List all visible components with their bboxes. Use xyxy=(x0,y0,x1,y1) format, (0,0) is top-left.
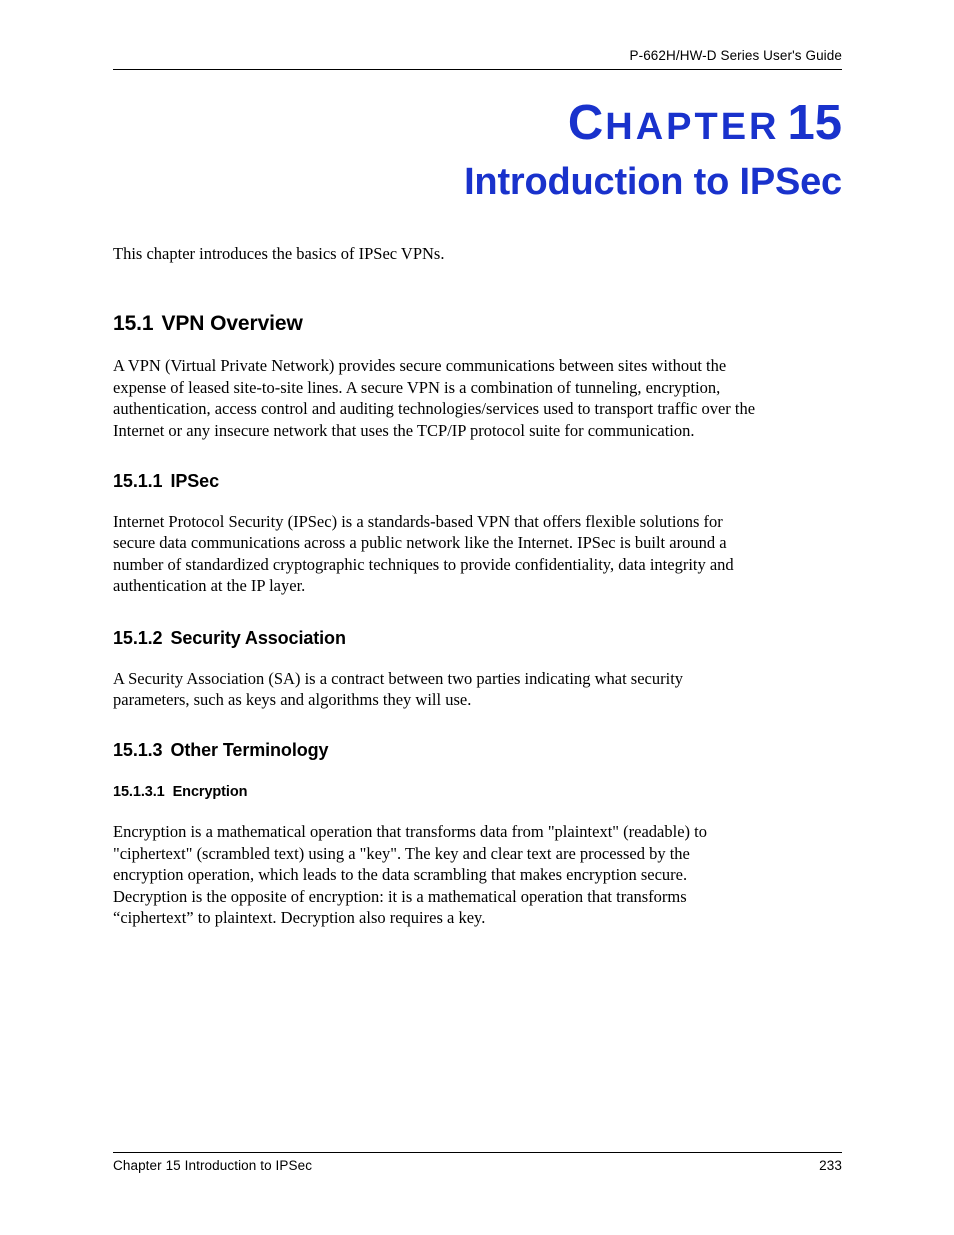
heading-15-1: 15.1 VPN Overview xyxy=(113,311,842,337)
paragraph-vpn-overview: A VPN (Virtual Private Network) provides… xyxy=(113,355,761,441)
spacer xyxy=(113,337,842,355)
heading-15-1-3-number: 15.1.3 xyxy=(113,740,162,760)
heading-15-1-3: 15.1.3 Other Terminology xyxy=(113,739,842,762)
footer-row: Chapter 15 Introduction to IPSec 233 xyxy=(113,1158,842,1173)
chapter-intro-paragraph: This chapter introduces the basics of IP… xyxy=(113,243,761,264)
page-number: 233 xyxy=(819,1158,842,1173)
spacer xyxy=(113,441,842,470)
spacer xyxy=(113,710,842,739)
chapter-label: CHAPTER 15 xyxy=(113,100,842,150)
heading-15-1-1: 15.1.1 IPSec xyxy=(113,470,842,493)
heading-15-1-2-title: Security Association xyxy=(170,628,345,648)
chapter-label-capital: C xyxy=(568,96,605,150)
heading-15-1-3-1-title: Encryption xyxy=(173,784,248,800)
heading-15-1-3-1: 15.1.3.1 Encryption xyxy=(113,783,842,802)
footer-divider xyxy=(113,1152,842,1153)
heading-15-1-2-number: 15.1.2 xyxy=(113,628,162,648)
chapter-title: Introduction to IPSec xyxy=(113,159,842,205)
spacer xyxy=(113,762,842,783)
paragraph-encryption: Encryption is a mathematical operation t… xyxy=(113,821,761,928)
document-page: P-662H/HW-D Series User's Guide CHAPTER … xyxy=(0,0,954,1235)
heading-15-1-1-title: IPSec xyxy=(170,471,219,491)
spacer xyxy=(113,650,842,668)
paragraph-security-association: A Security Association (SA) is a contrac… xyxy=(113,668,761,711)
spacer xyxy=(113,597,842,627)
chapter-label-rest: HAPTER xyxy=(605,106,779,148)
chapter-number: 15 xyxy=(787,96,842,150)
heading-15-1-3-title: Other Terminology xyxy=(170,740,328,760)
spacer xyxy=(113,264,842,311)
page-header: P-662H/HW-D Series User's Guide xyxy=(113,48,842,70)
page-content: This chapter introduces the basics of IP… xyxy=(113,243,842,929)
running-header-title: P-662H/HW-D Series User's Guide xyxy=(113,48,842,64)
heading-15-1-3-1-number: 15.1.3.1 xyxy=(113,784,165,800)
header-divider xyxy=(113,69,842,70)
footer-chapter-label: Chapter 15 Introduction to IPSec xyxy=(113,1158,312,1173)
chapter-heading: CHAPTER 15 Introduction to IPSec xyxy=(113,100,842,205)
heading-15-1-number: 15.1 xyxy=(113,312,153,335)
page-footer: Chapter 15 Introduction to IPSec 233 xyxy=(113,1152,842,1173)
spacer xyxy=(113,802,842,821)
heading-15-1-2: 15.1.2 Security Association xyxy=(113,627,842,650)
heading-15-1-title: VPN Overview xyxy=(161,312,302,335)
paragraph-ipsec: Internet Protocol Security (IPSec) is a … xyxy=(113,511,761,597)
heading-15-1-1-number: 15.1.1 xyxy=(113,471,162,491)
spacer xyxy=(113,493,842,511)
